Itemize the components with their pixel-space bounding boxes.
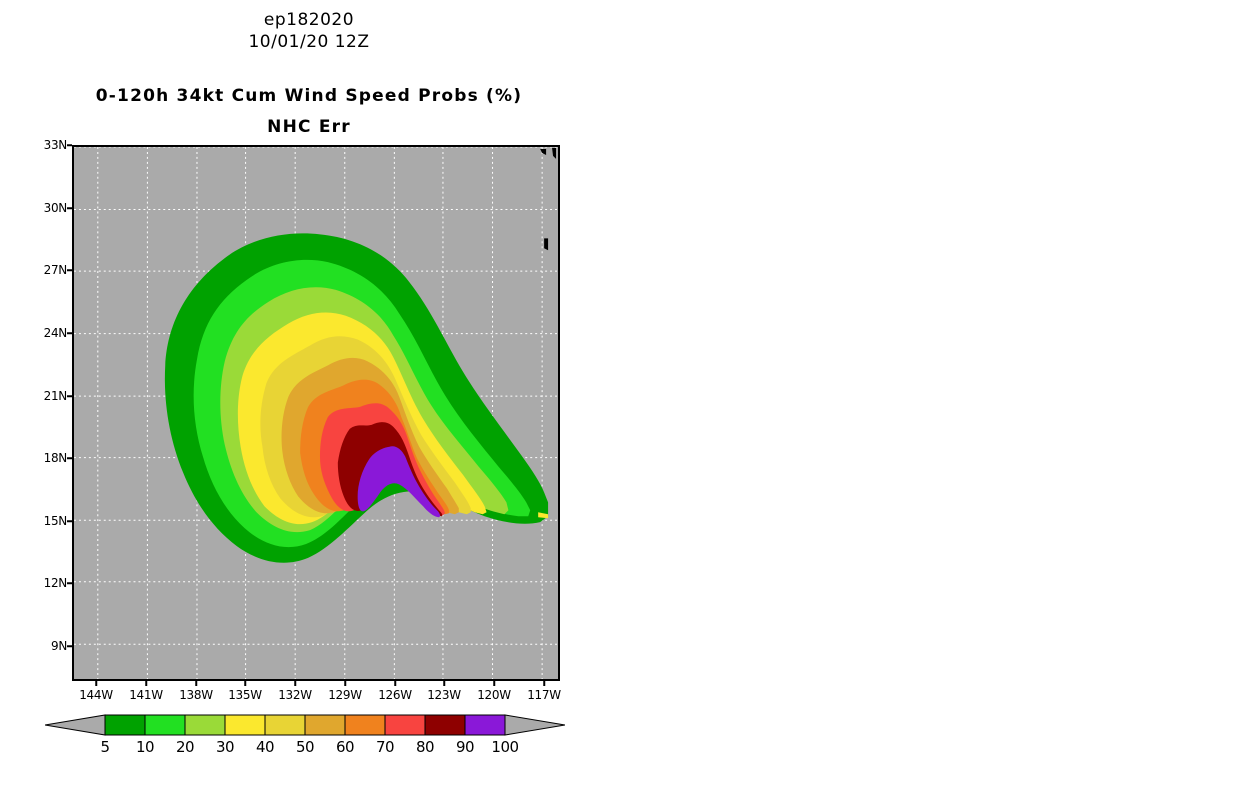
xtick-mark-144W (95, 681, 97, 686)
xtick-label-117W: 117W (527, 688, 561, 702)
colorbar-probability: 5 10 20 30 40 50 60 70 80 90 100 (45, 712, 565, 782)
wind-prob-contours (74, 147, 558, 679)
colorbar-label-100: 100 (491, 738, 518, 756)
colorbar-swatch-40 (265, 715, 305, 735)
ytick-label-30N: 30N (44, 201, 67, 215)
plot-area-left: 33N 30N 27N 24N 21N 18N 15N 12N 9N 144W … (72, 145, 560, 681)
colorbar-swatch-60 (345, 715, 385, 735)
chart-title-left: 0-120h 34kt Cum Wind Speed Probs (%) (0, 86, 618, 106)
xtick-mark-120W (493, 681, 495, 686)
colorbar-label-70: 70 (376, 738, 394, 756)
ytick-label-15N: 15N (44, 514, 67, 528)
colorbar-swatch-80 (425, 715, 465, 735)
xtick-label-129W: 129W (328, 688, 362, 702)
colorbar-swatch-20 (185, 715, 225, 735)
chart-subtitle-left: NHC Err (0, 117, 618, 137)
colorbar-over-arrow (505, 715, 565, 735)
colorbar-label-80: 80 (416, 738, 434, 756)
xtick-label-123W: 123W (427, 688, 461, 702)
ytick-mark-30N (67, 207, 72, 209)
colorbar-swatch-5 (105, 715, 145, 735)
xtick-mark-129W (344, 681, 346, 686)
ytick-mark-27N (67, 269, 72, 271)
colorbar-label-10: 10 (136, 738, 154, 756)
colorbar-label-20: 20 (176, 738, 194, 756)
xtick-label-135W: 135W (228, 688, 262, 702)
ytick-mark-21N (67, 395, 72, 397)
colorbar-label-5: 5 (100, 738, 109, 756)
ytick-label-24N: 24N (44, 326, 67, 340)
ytick-label-18N: 18N (44, 451, 67, 465)
xtick-label-126W: 126W (378, 688, 412, 702)
colorbar-label-50: 50 (296, 738, 314, 756)
ytick-label-27N: 27N (44, 263, 67, 277)
colorbar-swatches-left (45, 712, 565, 738)
ytick-mark-24N (67, 332, 72, 334)
colorbar-swatch-70 (385, 715, 425, 735)
map-canvas-left (72, 145, 560, 681)
ytick-mark-15N (67, 520, 72, 522)
xtick-mark-141W (145, 681, 147, 686)
colorbar-under-arrow (45, 715, 105, 735)
colorbar-label-30: 30 (216, 738, 234, 756)
xtick-mark-138W (195, 681, 197, 686)
ytick-label-12N: 12N (44, 576, 67, 590)
date-label-left: 10/01/20 12Z (0, 32, 618, 52)
ytick-mark-12N (67, 582, 72, 584)
colorbar-label-40: 40 (256, 738, 274, 756)
xtick-mark-126W (394, 681, 396, 686)
ytick-mark-33N (67, 144, 72, 146)
xtick-label-144W: 144W (79, 688, 113, 702)
xtick-label-141W: 141W (129, 688, 163, 702)
ytick-label-33N: 33N (44, 138, 67, 152)
colorbar-label-60: 60 (336, 738, 354, 756)
panel-nhc-err-minus-control: ep182020 10/01/20 12Z 0-120h 34kt Cum Wi… (618, 0, 1236, 800)
ytick-mark-18N (67, 457, 72, 459)
ytick-label-21N: 21N (44, 389, 67, 403)
panel-nhc-err: ep182020 10/01/20 12Z 0-120h 34kt Cum Wi… (0, 0, 618, 800)
colorbar-label-90: 90 (456, 738, 474, 756)
xtick-label-138W: 138W (179, 688, 213, 702)
xtick-label-132W: 132W (278, 688, 312, 702)
xtick-label-120W: 120W (477, 688, 511, 702)
xtick-mark-123W (443, 681, 445, 686)
xtick-mark-132W (294, 681, 296, 686)
xtick-mark-117W (543, 681, 545, 686)
storm-id-left: ep182020 (0, 10, 618, 30)
colorbar-swatch-90 (465, 715, 505, 735)
xtick-mark-135W (244, 681, 246, 686)
colorbar-swatch-30 (225, 715, 265, 735)
ytick-label-9N: 9N (51, 639, 67, 653)
ytick-mark-9N (67, 645, 72, 647)
colorbar-swatch-10 (145, 715, 185, 735)
colorbar-swatch-50 (305, 715, 345, 735)
